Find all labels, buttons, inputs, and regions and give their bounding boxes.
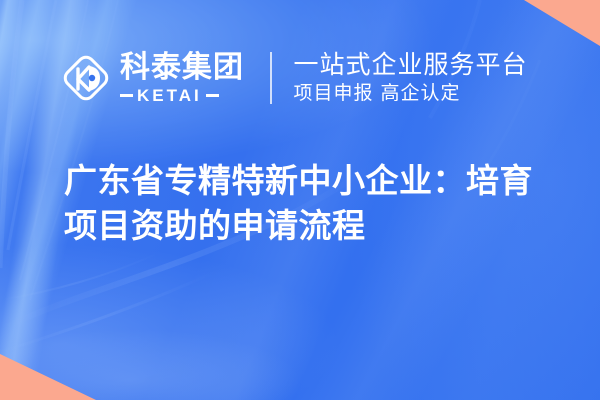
page-title: 广东省专精特新中小企业：培育项目资助的申请流程 bbox=[64, 158, 564, 248]
tagline-primary: 一站式企业服务平台 bbox=[294, 51, 528, 79]
header-tagline: 一站式企业服务平台 项目申报 高企认定 bbox=[294, 51, 528, 106]
logo-wordmark: 科泰集团 KETAI bbox=[120, 53, 244, 104]
banner-header: 科泰集团 KETAI 一站式企业服务平台 项目申报 高企认定 bbox=[58, 44, 528, 112]
ketai-diamond-kd-logo-icon bbox=[58, 50, 114, 106]
brand-dash-left-icon bbox=[120, 94, 133, 97]
promo-banner: 科泰集团 KETAI 一站式企业服务平台 项目申报 高企认定 广东省专精特新中小… bbox=[0, 0, 600, 400]
tagline-secondary: 项目申报 高企认定 bbox=[294, 82, 528, 106]
brand-name-cn: 科泰集团 bbox=[120, 53, 244, 83]
header-divider bbox=[270, 52, 272, 104]
brand-name-en: KETAI bbox=[137, 87, 202, 104]
brand-name-en-row: KETAI bbox=[120, 87, 244, 104]
brand-dash-right-icon bbox=[206, 94, 219, 97]
